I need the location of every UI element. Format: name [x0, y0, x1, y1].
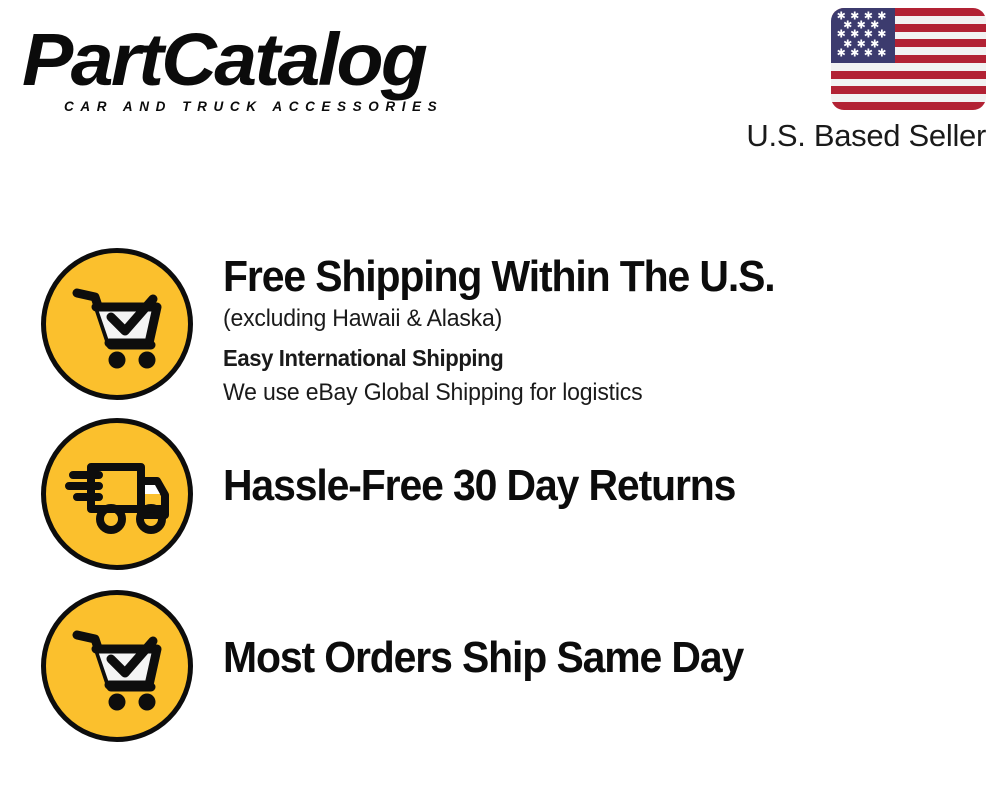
- us-based-seller-label: U.S. Based Seller: [716, 117, 986, 155]
- feature-sub-note: (excluding Hawaii & Alaska): [223, 302, 969, 336]
- shopping-cart-check-icon: [41, 248, 193, 400]
- feature-sub-detail: We use eBay Global Shipping for logistic…: [223, 376, 969, 410]
- brand-logo[interactable]: PartCatalog CAR AND TRUCK ACCESSORIES: [22, 22, 492, 122]
- feature-text-block: Hassle-Free 30 Day Returns: [223, 418, 1000, 511]
- feature-row: Most Orders Ship Same Day: [0, 590, 1000, 762]
- delivery-truck-icon: [41, 418, 193, 570]
- feature-row: Hassle-Free 30 Day Returns: [0, 418, 1000, 590]
- feature-title: Free Shipping Within The U.S.: [223, 252, 946, 302]
- flag-canton: ✱ ✱ ✱ ✱ ✱ ✱ ✱ ✱ ✱ ✱ ✱ ✱ ✱ ✱ ✱ ✱ ✱ ✱: [831, 8, 895, 63]
- us-based-seller-badge: ✱ ✱ ✱ ✱ ✱ ✱ ✱ ✱ ✱ ✱ ✱ ✱ ✱ ✱ ✱ ✱ ✱ ✱ U.S.…: [716, 8, 986, 155]
- feature-title: Most Orders Ship Same Day: [223, 633, 946, 683]
- banner-header: PartCatalog CAR AND TRUCK ACCESSORIES: [0, 0, 1000, 200]
- brand-tagline: CAR AND TRUCK ACCESSORIES: [64, 99, 492, 114]
- feature-row: Free Shipping Within The U.S. (excluding…: [0, 248, 1000, 420]
- feature-title: Hassle-Free 30 Day Returns: [223, 461, 946, 511]
- brand-wordmark: PartCatalog: [22, 22, 511, 98]
- us-flag-icon: ✱ ✱ ✱ ✱ ✱ ✱ ✱ ✱ ✱ ✱ ✱ ✱ ✱ ✱ ✱ ✱ ✱ ✱: [831, 8, 986, 110]
- feature-text-block: Most Orders Ship Same Day: [223, 590, 1000, 683]
- feature-sub-heading: Easy International Shipping: [223, 340, 969, 376]
- feature-text-block: Free Shipping Within The U.S. (excluding…: [223, 248, 1000, 410]
- shopping-cart-check-icon: [41, 590, 193, 742]
